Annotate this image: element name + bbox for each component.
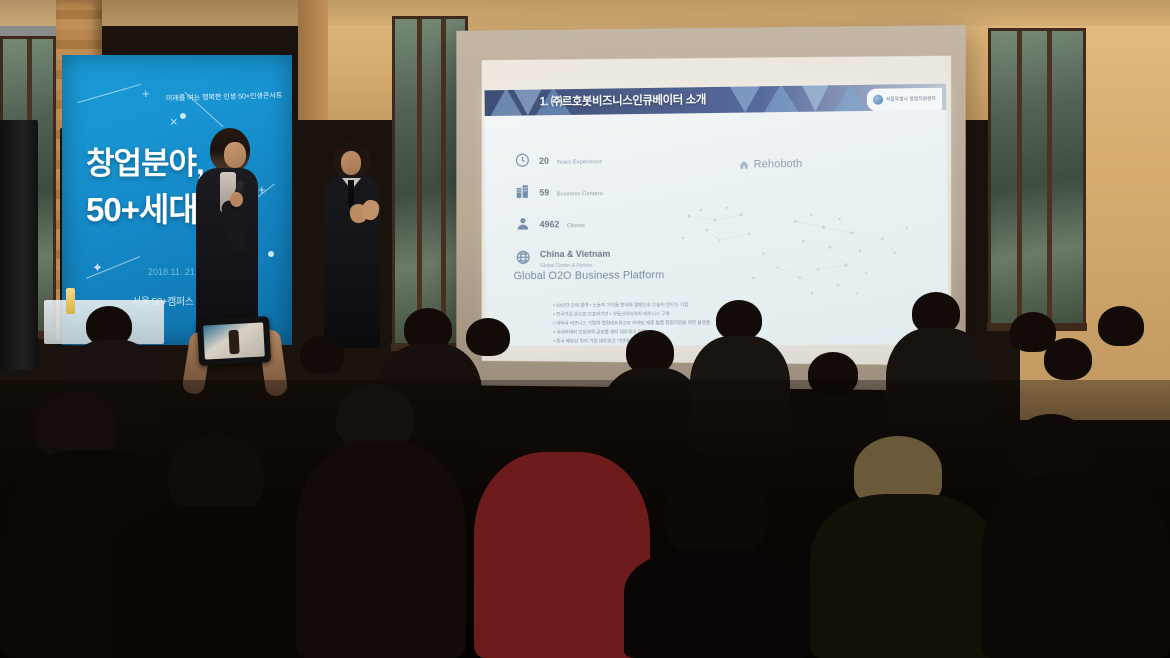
loudspeaker-tower-left: [0, 120, 38, 370]
section-bullet-list: 20년간 간의 업력 • 노동의 가치를 창의와 열정으로 드높이 만드는 기업…: [514, 300, 883, 345]
banner-headline-2: 50+세대: [86, 183, 198, 231]
audience-head: [716, 300, 762, 340]
audience-body: [296, 442, 466, 658]
presentation-slide: 1. ㈜르호봇비즈니스인큐베이터 소개 서울특별시 창업지원센터: [485, 84, 949, 346]
stat-row: 4962 Clients: [515, 214, 585, 232]
ceiling-band: [0, 0, 1170, 26]
slide-header-bar: 1. ㈜르호봇비즈니스인큐베이터 소개 서울특별시 창업지원센터: [485, 84, 947, 116]
banner-date: 2018.11. 21: [148, 267, 195, 277]
world-map-graphic: [653, 180, 931, 307]
slide-title: 1. ㈜르호봇비즈니스인큐베이터 소개: [539, 91, 706, 109]
smartphone-recording: [197, 316, 271, 366]
stat-sublabel: Global Center & Partner: [540, 263, 610, 269]
water-bottle: [66, 288, 75, 314]
stat-value: 20: [539, 156, 549, 166]
building-icon: [515, 184, 531, 200]
phone-screen: [203, 322, 265, 359]
rehoboth-logo: Rehoboth: [739, 158, 803, 171]
audience-head: [300, 336, 344, 374]
slide-header-logo: 서울특별시 창업지원센터: [867, 88, 943, 111]
stat-value: China & Vietnam: [540, 249, 610, 259]
audience-head: [466, 318, 510, 356]
audience-body: [624, 548, 812, 658]
audience-body: [982, 474, 1170, 658]
audience-head: [1098, 306, 1144, 346]
rehoboth-wordmark: Rehoboth: [754, 158, 803, 171]
stat-value: 4962: [540, 219, 560, 229]
globe-icon: [515, 249, 531, 265]
section-title: Global O2O Business Platform: [514, 269, 665, 282]
house-leaf-icon: [739, 159, 750, 170]
presenter: [196, 128, 258, 343]
wood-beam: [298, 0, 328, 120]
slide-logo-text: 서울특별시 창업지원센터: [886, 96, 936, 103]
photo-scene: + + + ✦ × 미래를 여는 행복한 인생 50+인생콘서트 창업분야, 5…: [0, 0, 1170, 658]
audience-head: [1044, 338, 1092, 380]
banner-corner-text: 미래를 여는 행복한 인생 50+인생콘서트: [166, 91, 283, 105]
audience-head: [664, 470, 768, 560]
window-right: [988, 28, 1086, 328]
clock-icon: [514, 152, 530, 168]
sign-language-interpreter: [324, 140, 380, 348]
stat-label: Clients: [567, 223, 585, 229]
stat-label: Business Centers: [557, 191, 603, 197]
person-icon: [515, 216, 531, 232]
stat-row: China & Vietnam Global Center & Partner: [515, 244, 610, 269]
stat-label: Years Experience: [556, 159, 602, 165]
stat-value: 59: [539, 188, 549, 198]
slide-logo-mark-icon: [873, 95, 883, 105]
stat-row: 59 Business Centers: [515, 182, 603, 201]
audience-body: [810, 494, 1000, 658]
banner-headline-1: 창업분야,: [86, 138, 204, 183]
stat-row: 20 Years Experience: [514, 150, 602, 169]
